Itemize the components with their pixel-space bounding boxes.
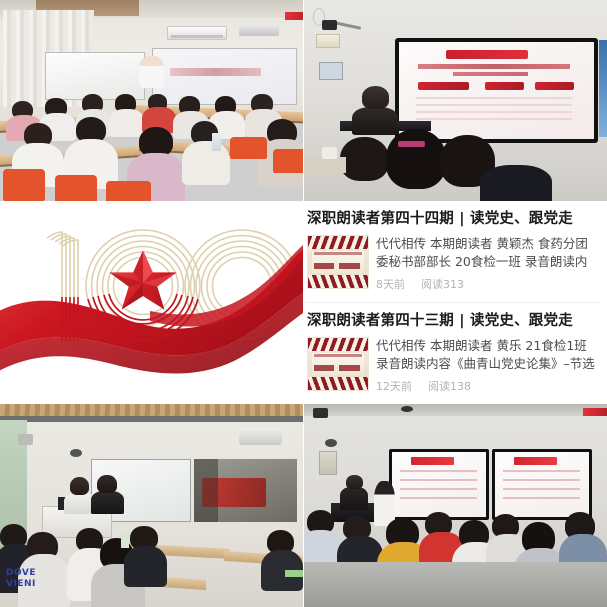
slide-label-chip: [485, 82, 524, 91]
red-ribbon: [0, 245, 303, 374]
projection-screen-title: [170, 68, 261, 76]
camera-icon: [325, 439, 337, 447]
student-head: [340, 137, 388, 181]
article-title[interactable]: 深职朗读者第四十三期 | 读党史、跟党走: [307, 313, 597, 330]
article-item[interactable]: 深职朗读者第四十三期 | 读党史、跟党走 代代相传 本期朗读者 黄乐 21食检1…: [305, 302, 601, 403]
ceiling-shadow: [0, 416, 303, 422]
slide-red-banner: [446, 50, 528, 59]
thumbnail-tag-right: [339, 263, 359, 269]
presenter-body: [91, 491, 124, 513]
camera-icon: [322, 20, 337, 30]
red-wall-banner: [285, 12, 303, 20]
wall-control-panel: [319, 451, 337, 475]
projector-icon: [239, 428, 281, 444]
student-body: [109, 109, 145, 137]
article-body: 代代相传 本期朗读者 黄颖杰 食药分团委秘书部部长 20食检一班 录音朗读内容 …: [307, 235, 597, 292]
projector-icon: [239, 24, 278, 36]
hair-tie: [398, 141, 425, 147]
small-monitor: [319, 62, 343, 80]
red-wall-banner: [583, 408, 607, 416]
thumbnail-title-bar: [314, 354, 362, 357]
ceiling: [304, 404, 607, 416]
slide-red-header: [411, 457, 454, 465]
slide-label-chip: [535, 82, 574, 91]
article-item[interactable]: 深职朗读者第四十四期 | 读党史、跟党走 代代相传 本期朗读者 黄颖杰 食药分团…: [305, 201, 601, 302]
article-read-count: 阅读138: [428, 380, 471, 393]
red-star-icon: [109, 250, 176, 309]
article-description: 代代相传 本期朗读者 黄乐 21食检1班 录音朗读内容《曲青山党史论集》–节选一…: [376, 337, 597, 373]
lcd-slide: [495, 452, 589, 517]
student-body: [124, 546, 166, 587]
photo-two-presenters: DOVE VIENI: [0, 404, 303, 607]
thumbnail-tag-left: [314, 263, 334, 269]
article-list: 深职朗读者第四十四期 | 读党史、跟党走 代代相传 本期朗读者 黄颖杰 食药分团…: [303, 201, 607, 404]
slide-body-text: [503, 470, 580, 506]
article-thumbnail[interactable]: [307, 337, 369, 391]
shirt-text-line2: VIENI: [6, 579, 73, 590]
article-time: 8天前: [376, 278, 405, 291]
lcd-slide: [392, 452, 486, 517]
article-description: 代代相传 本期朗读者 黄颖杰 食药分团委秘书部部长 20食检一班 录音朗读内容 …: [376, 235, 597, 271]
thumbnail-zigzag-bottom: [308, 275, 368, 288]
photo-collage: 深职朗读者第四十四期 | 读党史、跟党走 代代相传 本期朗读者 黄颖杰 食药分团…: [0, 0, 607, 607]
slide-subheadline: [453, 72, 527, 76]
camera-icon: [70, 449, 82, 457]
assistant-figure: [374, 481, 395, 526]
middle-band: 深职朗读者第四十四期 | 读党史、跟党走 代代相传 本期朗读者 黄颖杰 食药分团…: [0, 201, 607, 404]
slide-headline: [418, 64, 570, 69]
presenter-figure: [139, 56, 163, 88]
shirt-text-line1: DOVE: [6, 568, 73, 579]
presenter-head: [97, 475, 117, 493]
slide-body-text: [416, 97, 572, 124]
whiteboard: [45, 52, 145, 100]
bottle: [121, 534, 129, 548]
thumbnail-zigzag-top: [308, 338, 368, 351]
student-head: [386, 129, 447, 189]
presenter-head: [362, 86, 389, 108]
presenter-body: [352, 107, 397, 135]
emblem-svg: [0, 201, 303, 404]
photo-dual-lcd-classroom: [304, 404, 607, 607]
thumbnail-zigzag-bottom: [308, 377, 368, 390]
chair: [273, 149, 303, 173]
thumbnail-zigzag-top: [308, 236, 368, 249]
student-body: [480, 165, 553, 201]
water-bottle: [212, 133, 221, 151]
lcd-display-left: [389, 449, 489, 520]
chair: [230, 137, 266, 159]
article-thumbnail[interactable]: [307, 235, 369, 289]
book: [285, 570, 303, 576]
article-title[interactable]: 深职朗读者第四十四期 | 读党史、跟党走: [307, 211, 597, 228]
presenter-head: [70, 477, 90, 495]
desk-foreground: [304, 157, 346, 173]
secondary-display-edge: [599, 40, 607, 136]
lcd-display-right: [492, 449, 592, 520]
article-text: 代代相传 本期朗读者 黄颖杰 食药分团委秘书部部长 20食检一班 录音朗读内容 …: [376, 235, 597, 292]
projection-screen-shadow: [194, 459, 218, 522]
article-meta: 12天前 阅读138: [376, 378, 597, 394]
chair: [106, 181, 151, 201]
chair: [3, 169, 45, 201]
article-read-count: 阅读313: [421, 278, 464, 291]
shirt-text: DOVE VIENI: [6, 568, 73, 600]
thumbnail-tag-right: [339, 365, 359, 371]
teacup: [322, 147, 337, 159]
speaker-icon: [18, 434, 33, 444]
speaker-icon: [313, 408, 328, 418]
article-text: 代代相传 本期朗读者 黄乐 21食检1班 录音朗读内容《曲青山党史论集》–节选一…: [376, 337, 597, 394]
photo-classroom-lecture: [0, 0, 303, 201]
presenter-head: [346, 475, 363, 489]
photo-presenter-lcd: [304, 0, 607, 201]
thumbnail-title-bar: [314, 252, 362, 255]
student-body: [182, 141, 230, 185]
slide-red-header: [514, 457, 557, 465]
article-time: 12天前: [376, 380, 412, 393]
article-body: 代代相传 本期朗读者 黄乐 21食检1班 录音朗读内容《曲青山党史论集》–节选一…: [307, 337, 597, 394]
thumbnail-tag-left: [314, 365, 334, 371]
slide-logo-chip: [418, 82, 469, 91]
air-conditioner-icon: [167, 26, 228, 40]
chair-row: [304, 562, 607, 607]
article-meta: 8天前 阅读313: [376, 276, 597, 292]
slide-body-text: [400, 470, 477, 506]
cpc-100th-anniversary-emblem: [0, 201, 303, 404]
chair: [55, 175, 97, 201]
presenter-body: [340, 487, 367, 509]
wall-control-panel: [316, 34, 340, 48]
